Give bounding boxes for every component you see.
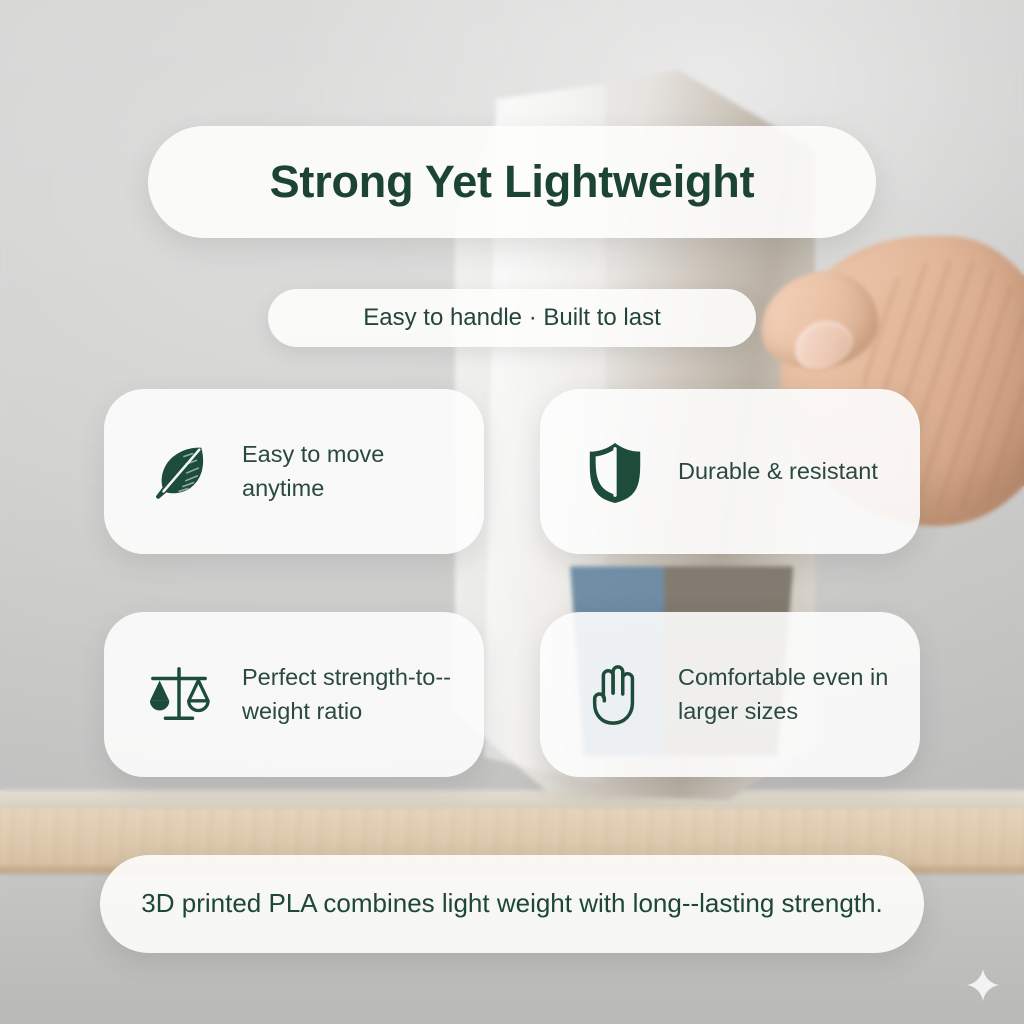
footer-description: 3D printed PLA combines light weight wit… xyxy=(141,886,882,922)
shield-icon xyxy=(578,435,652,509)
hand-icon xyxy=(578,658,652,732)
feature-label: Perfect strength-to--weight ratio xyxy=(242,661,458,728)
feature-card-durable[interactable]: Durable & resistant xyxy=(540,389,920,554)
feature-card-strength-to-weight[interactable]: Perfect strength-to--weight ratio xyxy=(104,612,484,777)
balance-scale-icon xyxy=(142,658,216,732)
page-subtitle: Easy to handle · Built to last xyxy=(363,304,661,332)
feature-card-grid: Easy to move anytime Durable & resistant xyxy=(104,389,920,777)
feature-card-easy-to-move[interactable]: Easy to move anytime xyxy=(104,389,484,554)
feather-icon xyxy=(142,435,216,509)
title-pill: Strong Yet Lightweight xyxy=(148,126,876,238)
feature-label: Easy to move anytime xyxy=(242,438,458,505)
subtitle-pill: Easy to handle · Built to last xyxy=(268,289,756,347)
feature-card-comfortable[interactable]: Comfortable even in larger sizes xyxy=(540,612,920,777)
sparkle-icon xyxy=(966,968,1000,1002)
feature-label: Durable & resistant xyxy=(678,455,878,488)
feature-label: Comfortable even in larger sizes xyxy=(678,661,894,728)
footer-pill: 3D printed PLA combines light weight wit… xyxy=(100,855,924,953)
info-overlay: Strong Yet Lightweight Easy to handle · … xyxy=(0,0,1024,1024)
page-title: Strong Yet Lightweight xyxy=(270,156,755,208)
